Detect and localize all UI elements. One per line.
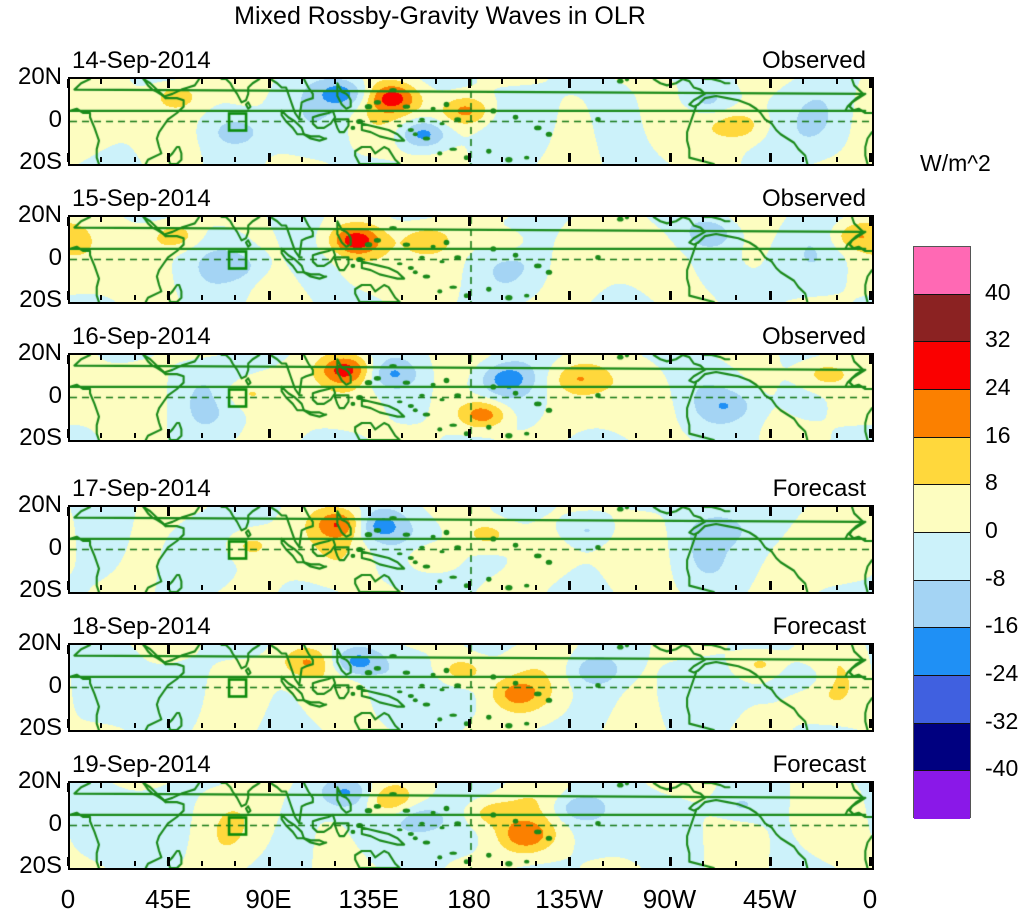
colorbar-band [914,676,970,724]
colorbar-band [914,295,970,343]
axis-tick-mark [802,79,804,84]
map-panel [68,781,874,870]
axis-tick-mark [67,217,70,226]
axis-tick-mark [268,783,271,792]
axis-tick-mark [635,433,637,438]
axis-tick-mark [67,581,70,590]
axis-tick-mark [67,645,70,654]
axis-tick-mark [635,585,637,590]
axis-tick-mark [836,723,838,728]
axis-tick-mark [201,217,203,222]
axis-tick-mark [134,355,136,360]
axis-tick-mark [368,857,371,866]
axis-tick-mark [134,585,136,590]
colorbar-band [914,485,970,533]
axis-tick-mark [435,217,437,222]
panel-kind-label: Observed [0,185,866,213]
axis-tick-mark [602,645,604,650]
axis-tick-mark [501,157,503,162]
axis-tick-mark [100,861,102,866]
axis-tick-mark [100,783,102,788]
olr-anomaly-field [70,507,872,592]
axis-tick-mark [134,645,136,650]
y-axis-tick-label: 20N [0,339,62,367]
axis-tick-mark [602,355,604,360]
axis-tick-mark [268,429,271,438]
colorbar-band [914,628,970,676]
axis-tick-mark [401,783,403,788]
axis-tick-mark [869,153,872,162]
axis-tick-mark [535,217,537,222]
axis-tick-mark [435,295,437,300]
axis-tick-mark [334,157,336,162]
axis-tick-mark [301,723,303,728]
axis-tick-mark [501,585,503,590]
axis-tick-mark [134,783,136,788]
axis-tick-mark [167,507,170,516]
axis-tick-mark [702,507,704,512]
olr-anomaly-field [70,783,872,868]
axis-tick-mark [100,295,102,300]
axis-tick-mark [234,295,236,300]
axis-tick-mark [802,217,804,222]
axis-tick-mark [201,783,203,788]
axis-tick-mark [635,645,637,650]
axis-tick-mark [702,645,704,650]
axis-tick-mark [234,157,236,162]
axis-tick-mark [468,581,471,590]
axis-tick-mark [334,783,336,788]
colorbar-band [914,771,970,819]
axis-tick-mark [334,217,336,222]
axis-tick-mark [669,645,672,654]
y-axis-tick-label: 0 [0,672,62,700]
axis-tick-mark [702,783,704,788]
axis-tick-mark [301,355,303,360]
colorbar-band [914,390,970,438]
y-axis-tick-label: 0 [0,810,62,838]
axis-tick-mark [869,429,872,438]
axis-tick-mark [468,291,471,300]
axis-tick-mark [67,429,70,438]
axis-tick-mark [234,217,236,222]
axis-tick-mark [669,857,672,866]
axis-tick-mark [535,157,537,162]
axis-tick-mark [702,585,704,590]
figure-root: Mixed Rossby-Gravity Waves in OLR 14-Sep… [0,0,1021,924]
axis-tick-mark [134,507,136,512]
axis-tick-mark [568,857,571,866]
axis-tick-mark [368,217,371,226]
axis-tick-mark [368,507,371,516]
axis-tick-mark [836,585,838,590]
colorbar-tick-label: -32 [985,708,1018,735]
axis-tick-mark [535,861,537,866]
axis-tick-mark [702,79,704,84]
map-panel [68,353,874,442]
axis-tick-mark [769,719,772,728]
axis-tick-mark [268,79,271,88]
axis-tick-mark [167,857,170,866]
axis-tick-mark [167,783,170,792]
map-panel [68,505,874,594]
axis-tick-mark [334,723,336,728]
axis-tick-mark [201,157,203,162]
axis-tick-mark [836,217,838,222]
axis-tick-mark [301,507,303,512]
axis-tick-mark [268,291,271,300]
colorbar-band [914,581,970,629]
axis-tick-mark [368,783,371,792]
axis-tick-mark [568,291,571,300]
axis-tick-mark [702,723,704,728]
axis-tick-mark [735,217,737,222]
axis-tick-mark [602,433,604,438]
axis-tick-mark [836,355,838,360]
axis-tick-mark [535,645,537,650]
axis-tick-mark [802,861,804,866]
y-axis-tick-label: 20S [0,148,62,176]
axis-tick-mark [268,355,271,364]
axis-tick-mark [501,507,503,512]
axis-tick-mark [334,79,336,84]
axis-tick-mark [535,507,537,512]
axis-tick-mark [201,861,203,866]
axis-tick-mark [435,433,437,438]
axis-tick-mark [201,645,203,650]
axis-tick-mark [702,157,704,162]
axis-tick-mark [435,783,437,788]
y-axis-tick-label: 20S [0,286,62,314]
axis-tick-mark [268,857,271,866]
axis-tick-mark [368,153,371,162]
colorbar-tick-label: 32 [985,326,1011,353]
y-axis-tick-label: 0 [0,244,62,272]
axis-tick-mark [535,723,537,728]
axis-tick-mark [100,585,102,590]
axis-tick-mark [468,355,471,364]
axis-tick-mark [735,295,737,300]
axis-tick-mark [468,857,471,866]
axis-tick-mark [435,355,437,360]
axis-tick-mark [301,217,303,222]
axis-tick-mark [802,355,804,360]
axis-tick-mark [401,645,403,650]
axis-tick-mark [401,861,403,866]
axis-tick-mark [134,79,136,84]
axis-tick-mark [869,783,872,792]
axis-tick-mark [802,585,804,590]
axis-tick-mark [67,783,70,792]
axis-tick-mark [501,783,503,788]
axis-tick-mark [401,79,403,84]
axis-tick-mark [301,645,303,650]
axis-tick-mark [334,355,336,360]
axis-tick-mark [201,585,203,590]
colorbar-tick-label: -24 [985,660,1018,687]
axis-tick-mark [67,857,70,866]
axis-tick-mark [669,783,672,792]
axis-tick-mark [201,355,203,360]
axis-tick-mark [669,429,672,438]
axis-tick-mark [100,723,102,728]
axis-tick-mark [702,861,704,866]
axis-tick-mark [535,433,537,438]
axis-tick-mark [836,645,838,650]
axis-tick-mark [635,295,637,300]
axis-tick-mark [635,507,637,512]
axis-tick-mark [368,581,371,590]
axis-tick-mark [869,355,872,364]
colorbar-tick-label: 40 [985,279,1011,306]
axis-tick-mark [368,719,371,728]
axis-tick-mark [435,861,437,866]
y-axis-tick-label: 20N [0,629,62,657]
axis-tick-mark [769,783,772,792]
axis-tick-mark [67,291,70,300]
axis-tick-mark [234,79,236,84]
axis-tick-mark [301,783,303,788]
axis-tick-mark [268,645,271,654]
axis-tick-mark [268,217,271,226]
axis-tick-mark [769,581,772,590]
colorbar-tick-label: -8 [985,565,1005,592]
axis-tick-mark [769,429,772,438]
axis-tick-mark [134,723,136,728]
axis-tick-mark [802,157,804,162]
colorbar-tick-label: 16 [985,422,1011,449]
axis-tick-mark [468,507,471,516]
axis-tick-mark [635,79,637,84]
colorbar [913,246,971,818]
colorbar-tick-label: -16 [985,612,1018,639]
axis-tick-mark [669,153,672,162]
axis-tick-mark [301,585,303,590]
axis-tick-mark [468,783,471,792]
y-axis-tick-label: 20N [0,491,62,519]
axis-tick-mark [869,507,872,516]
axis-tick-mark [669,355,672,364]
axis-tick-mark [100,157,102,162]
axis-tick-mark [201,295,203,300]
axis-tick-mark [234,645,236,650]
y-axis-tick-label: 0 [0,106,62,134]
axis-tick-mark [67,355,70,364]
axis-tick-mark [401,433,403,438]
axis-tick-mark [568,719,571,728]
axis-tick-mark [334,507,336,512]
axis-tick-mark [167,355,170,364]
axis-tick-mark [802,645,804,650]
axis-tick-mark [234,783,236,788]
axis-tick-mark [602,723,604,728]
axis-tick-mark [67,153,70,162]
axis-tick-mark [134,217,136,222]
olr-anomaly-field [70,645,872,730]
axis-tick-mark [234,507,236,512]
axis-tick-mark [735,645,737,650]
axis-tick-mark [769,291,772,300]
axis-tick-mark [67,719,70,728]
axis-tick-mark [735,79,737,84]
axis-tick-mark [401,723,403,728]
axis-tick-mark [301,157,303,162]
axis-tick-mark [334,433,336,438]
axis-tick-mark [368,79,371,88]
axis-tick-mark [501,295,503,300]
axis-tick-mark [635,217,637,222]
axis-tick-mark [568,153,571,162]
axis-tick-mark [568,581,571,590]
axis-tick-mark [769,645,772,654]
axis-tick-mark [435,507,437,512]
axis-tick-mark [401,585,403,590]
axis-tick-mark [568,645,571,654]
axis-tick-mark [669,217,672,226]
axis-tick-mark [435,645,437,650]
axis-tick-mark [401,507,403,512]
axis-tick-mark [802,295,804,300]
axis-tick-mark [501,355,503,360]
axis-tick-mark [435,585,437,590]
olr-anomaly-field [70,355,872,440]
axis-tick-mark [602,861,604,866]
y-axis-tick-label: 20N [0,201,62,229]
axis-tick-mark [669,79,672,88]
axis-tick-mark [802,723,804,728]
axis-tick-mark [568,507,571,516]
axis-tick-mark [368,355,371,364]
axis-tick-mark [602,79,604,84]
axis-tick-mark [635,723,637,728]
axis-tick-mark [501,433,503,438]
axis-tick-mark [501,723,503,728]
axis-tick-mark [435,79,437,84]
axis-tick-mark [100,217,102,222]
axis-tick-mark [201,723,203,728]
axis-tick-mark [669,291,672,300]
colorbar-tick-label: 8 [985,469,998,496]
axis-tick-mark [635,783,637,788]
y-axis-tick-label: 20S [0,424,62,452]
axis-tick-mark [234,585,236,590]
axis-tick-mark [301,433,303,438]
colorbar-band [914,342,970,390]
axis-tick-mark [501,861,503,866]
axis-tick-mark [468,153,471,162]
axis-tick-mark [100,79,102,84]
axis-tick-mark [836,157,838,162]
axis-tick-mark [702,217,704,222]
axis-tick-mark [535,295,537,300]
axis-tick-mark [501,79,503,84]
axis-tick-mark [635,157,637,162]
axis-tick-mark [100,355,102,360]
axis-tick-mark [735,861,737,866]
axis-tick-mark [167,429,170,438]
axis-tick-mark [268,507,271,516]
axis-tick-mark [368,291,371,300]
axis-tick-mark [100,433,102,438]
axis-tick-mark [602,783,604,788]
colorbar-tick-label: 24 [985,374,1011,401]
panel-kind-label: Observed [0,47,866,75]
axis-tick-mark [167,719,170,728]
axis-tick-mark [735,157,737,162]
axis-tick-mark [669,507,672,516]
axis-tick-mark [669,581,672,590]
axis-tick-mark [836,507,838,512]
y-axis-tick-label: 20S [0,714,62,742]
axis-tick-mark [234,723,236,728]
axis-tick-mark [735,723,737,728]
axis-tick-mark [602,295,604,300]
axis-tick-mark [201,507,203,512]
axis-tick-mark [602,507,604,512]
axis-tick-mark [268,153,271,162]
axis-tick-mark [802,783,804,788]
axis-tick-mark [167,217,170,226]
panel-kind-label: Observed [0,323,866,351]
axis-tick-mark [234,355,236,360]
axis-tick-mark [635,861,637,866]
axis-tick-mark [435,723,437,728]
y-axis-tick-label: 20N [0,63,62,91]
axis-tick-mark [334,295,336,300]
axis-tick-mark [602,157,604,162]
axis-tick-mark [702,295,704,300]
axis-tick-mark [435,157,437,162]
axis-tick-mark [268,581,271,590]
axis-tick-mark [836,295,838,300]
axis-tick-mark [167,153,170,162]
axis-tick-mark [234,433,236,438]
axis-tick-mark [334,585,336,590]
axis-tick-mark [401,157,403,162]
axis-tick-mark [167,79,170,88]
axis-tick-mark [735,507,737,512]
y-axis-tick-label: 0 [0,534,62,562]
axis-tick-mark [669,719,672,728]
axis-tick-mark [100,507,102,512]
axis-tick-mark [134,295,136,300]
olr-anomaly-field [70,79,872,164]
map-panel [68,77,874,166]
axis-tick-mark [301,295,303,300]
axis-tick-mark [568,79,571,88]
colorbar-band [914,438,970,486]
axis-tick-mark [67,79,70,88]
panel-kind-label: Forecast [0,475,866,503]
axis-tick-mark [468,79,471,88]
axis-tick-mark [301,79,303,84]
y-axis-tick-label: 0 [0,382,62,410]
axis-tick-mark [535,355,537,360]
axis-tick-mark [769,507,772,516]
y-axis-tick-label: 20S [0,852,62,880]
axis-tick-mark [201,79,203,84]
axis-tick-mark [568,217,571,226]
x-axis-tick-label: 0 [810,884,930,915]
axis-tick-mark [535,585,537,590]
axis-tick-mark [234,861,236,866]
axis-tick-mark [100,645,102,650]
axis-tick-mark [501,645,503,650]
colorbar-band [914,724,970,772]
axis-tick-mark [836,433,838,438]
axis-tick-mark [602,585,604,590]
axis-tick-mark [167,291,170,300]
